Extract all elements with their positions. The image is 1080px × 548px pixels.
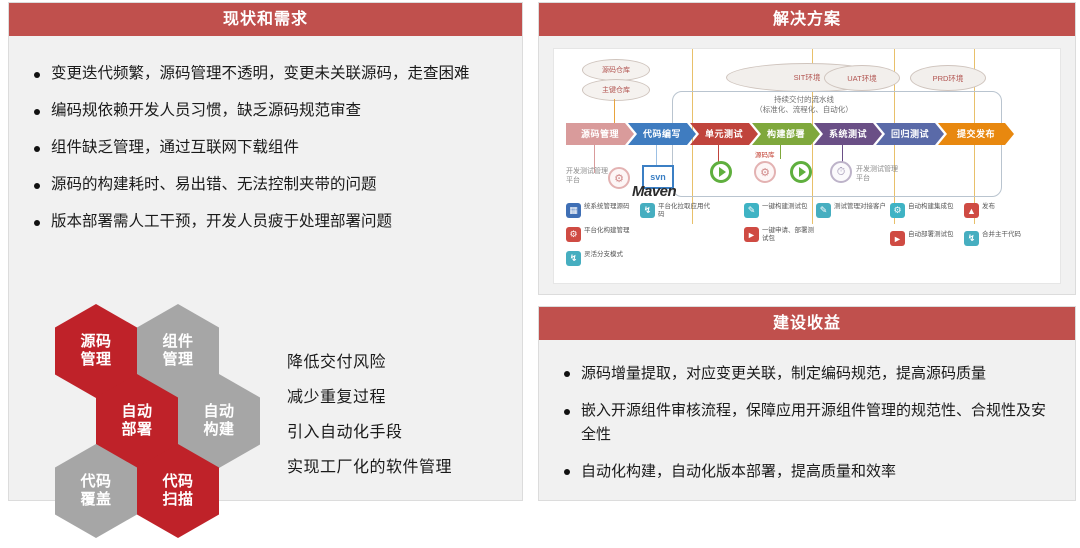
gain-list: 降低交付风险 减少重复过程 引入自动化手段 实现工厂化的软件管理 [287,348,517,488]
panel-benefit-body: 源码增量提取，对应变更关联，制定编码规范，提高源码质量 嵌入开源组件审核流程，保… [539,362,1075,483]
legend-item: ↯ 平台化拉取应用代码 [640,203,710,219]
oval-prd-environment: PRD环境 [910,65,986,91]
legend-label: 统系统管理源码 [584,203,630,211]
stage-build-deploy[interactable]: 构建部署 [752,123,820,145]
legend-label: 灵活分支模式 [584,251,623,259]
gear-icon[interactable]: ⚙ [754,161,776,183]
hex-label-line1: 自动 [121,403,152,421]
panel-current-situation: 现状和需求 变更迭代频繁，源码管理不透明，变更未关联源码，走查困难 编码规依赖开… [8,2,523,501]
delivery-pipeline-diagram: 源码仓库 主键仓库 SIT环境 UAT环境 PRD环境 持续交付的流水线 （标准… [553,48,1061,284]
legend-label: 平台化拉取应用代码 [658,203,710,219]
panel-benefit-title: 建设收益 [539,307,1075,340]
rocket-icon: ▲ [964,203,979,218]
legend-item: ► 自动部署测试包 [890,231,954,246]
maven-logo: Maven [632,183,676,200]
hex-label-line1: 组件 [162,333,193,351]
capability-hexagon-cluster: 源码 管理 组件 管理 自动 部署 自动 构建 代码 覆盖 [33,298,273,548]
slide-board: 现状和需求 变更迭代频繁，源码管理不透明，变更未关联源码，走查困难 编码规依赖开… [0,0,1080,503]
panel-solution: 解决方案 源码仓库 主键仓库 SIT环境 UAT环境 PRD环境 持 [538,2,1076,295]
hex-label-line2: 构建 [203,421,234,439]
pipeline-caption: 持续交付的流水线 （标准化、流程化、自动化） [704,95,904,115]
stage-system-test[interactable]: 系统测试 [814,123,882,145]
list-item: 嵌入开源组件审核流程，保障应用开源组件管理的规范性、合规性及安全性 [561,399,1053,446]
hex-label-line2: 管理 [162,351,193,369]
legend-item: ↯ 灵活分支模式 [566,251,623,266]
legend-label: 一键构建测试包 [762,203,808,211]
grid-icon: ▦ [566,203,581,218]
gain-item: 实现工厂化的软件管理 [287,453,517,477]
list-item: 组件缺乏管理，通过互联网下载组件 [31,136,502,160]
list-item: 自动化构建，自动化版本部署，提高质量和效率 [561,460,1053,483]
legend-item: ⚙ 自动构建集成包 [890,203,954,218]
oval-source-repository: 源码仓库 [582,59,650,81]
gain-item: 减少重复过程 [287,383,517,407]
legend-label: 平台化构建管理 [584,227,630,235]
legend-icons: ▦ 统系统管理源码 ↯ 平台化拉取应用代码 ⚙ 平台化构建管理 ↯ 灵活分支模式 [554,201,1061,284]
benefit-bullet-list: 源码增量提取，对应变更关联，制定编码规范，提高源码质量 嵌入开源组件审核流程，保… [561,362,1053,483]
stage-unit-test[interactable]: 单元测试 [690,123,758,145]
hex-label-line2: 覆盖 [80,491,111,509]
stage-code-writing[interactable]: 代码编写 [628,123,696,145]
legend-item: ↯ 合并主干代码 [964,231,1021,246]
legend-label: 自动部署测试包 [908,231,954,239]
legend-label: 测试管理对接客户 [834,203,886,211]
oval-uat-environment: UAT环境 [824,65,900,91]
pipeline-caption-line1: 持续交付的流水线 [704,95,904,105]
play-icon: ► [744,227,759,242]
legend-label: 合并主干代码 [982,231,1021,239]
hex-label-line1: 代码 [162,473,193,491]
stage-regression-test[interactable]: 回归测试 [876,123,944,145]
panel-current-title: 现状和需求 [9,3,522,36]
list-item: 版本部署需人工干预，开发人员疲于处理部署问题 [31,210,502,234]
panel-construction-benefit: 建设收益 源码增量提取，对应变更关联，制定编码规范，提高源码质量 嵌入开源组件审… [538,306,1076,501]
hex-label-line2: 扫描 [162,491,193,509]
current-bullet-list: 变更迭代频繁，源码管理不透明，变更未关联源码，走查困难 编码规依赖开发人员习惯，… [31,62,502,234]
integrate-icon: ⚙ [890,203,905,218]
stage-submit-release[interactable]: 提交发布 [938,123,1014,145]
branch-icon: ↯ [640,203,655,218]
legend-item: ▦ 统系统管理源码 [566,203,630,218]
legend-item: ► 一键申请、部署测试包 [744,227,814,243]
legend-item: ⚙ 平台化构建管理 [566,227,630,242]
list-item: 源码增量提取，对应变更关联，制定编码规范，提高源码质量 [561,362,1053,385]
build-icon: ⚙ [566,227,581,242]
legend-item: ✎ 测试管理对接客户 [816,203,886,218]
merge-icon: ↯ [964,231,979,246]
panel-current-body: 变更迭代频繁，源码管理不透明，变更未关联源码，走查困难 编码规依赖开发人员习惯，… [9,62,522,234]
hex-label-line1: 源码 [80,333,111,351]
hex-label-line1: 代码 [80,473,111,491]
dev-test-platform-label: 开发测试管理平台 [856,165,898,183]
source-repo-tag: 源码库 [755,149,775,159]
play-icon: ► [890,231,905,246]
pipeline-caption-line2: （标准化、流程化、自动化） [704,105,904,115]
legend-label: 发布 [982,203,995,211]
gauge-icon[interactable]: ⏱ [830,161,852,183]
branch-icon: ↯ [566,251,581,266]
panel-solution-title: 解决方案 [539,3,1075,36]
dev-test-platform-label: 开发测试管理平台 [566,167,608,185]
legend-item: ▲ 发布 [964,203,995,218]
list-item: 源码的构建耗时、易出错、无法控制夹带的问题 [31,173,502,197]
hex-label-line1: 自动 [203,403,234,421]
hex-label-line2: 管理 [80,351,111,369]
legend-label: 自动构建集成包 [908,203,954,211]
oval-build-repository: 主键仓库 [582,79,650,101]
gear-icon[interactable]: ⚙ [608,167,630,189]
test-icon: ✎ [744,203,759,218]
gain-item: 降低交付风险 [287,348,517,372]
play-icon[interactable] [790,161,812,183]
manage-icon: ✎ [816,203,831,218]
list-item: 变更迭代频繁，源码管理不透明，变更未关联源码，走查困难 [31,62,502,86]
hex-label-line2: 部署 [121,421,152,439]
legend-item: ✎ 一键构建测试包 [744,203,808,218]
play-icon[interactable] [710,161,732,183]
stage-source-management[interactable]: 源码管理 [566,123,634,145]
stage-drop-line [780,145,781,159]
list-item: 编码规依赖开发人员习惯，缺乏源码规范审查 [31,99,502,123]
legend-label: 一键申请、部署测试包 [762,227,814,243]
gain-item: 引入自动化手段 [287,418,517,442]
